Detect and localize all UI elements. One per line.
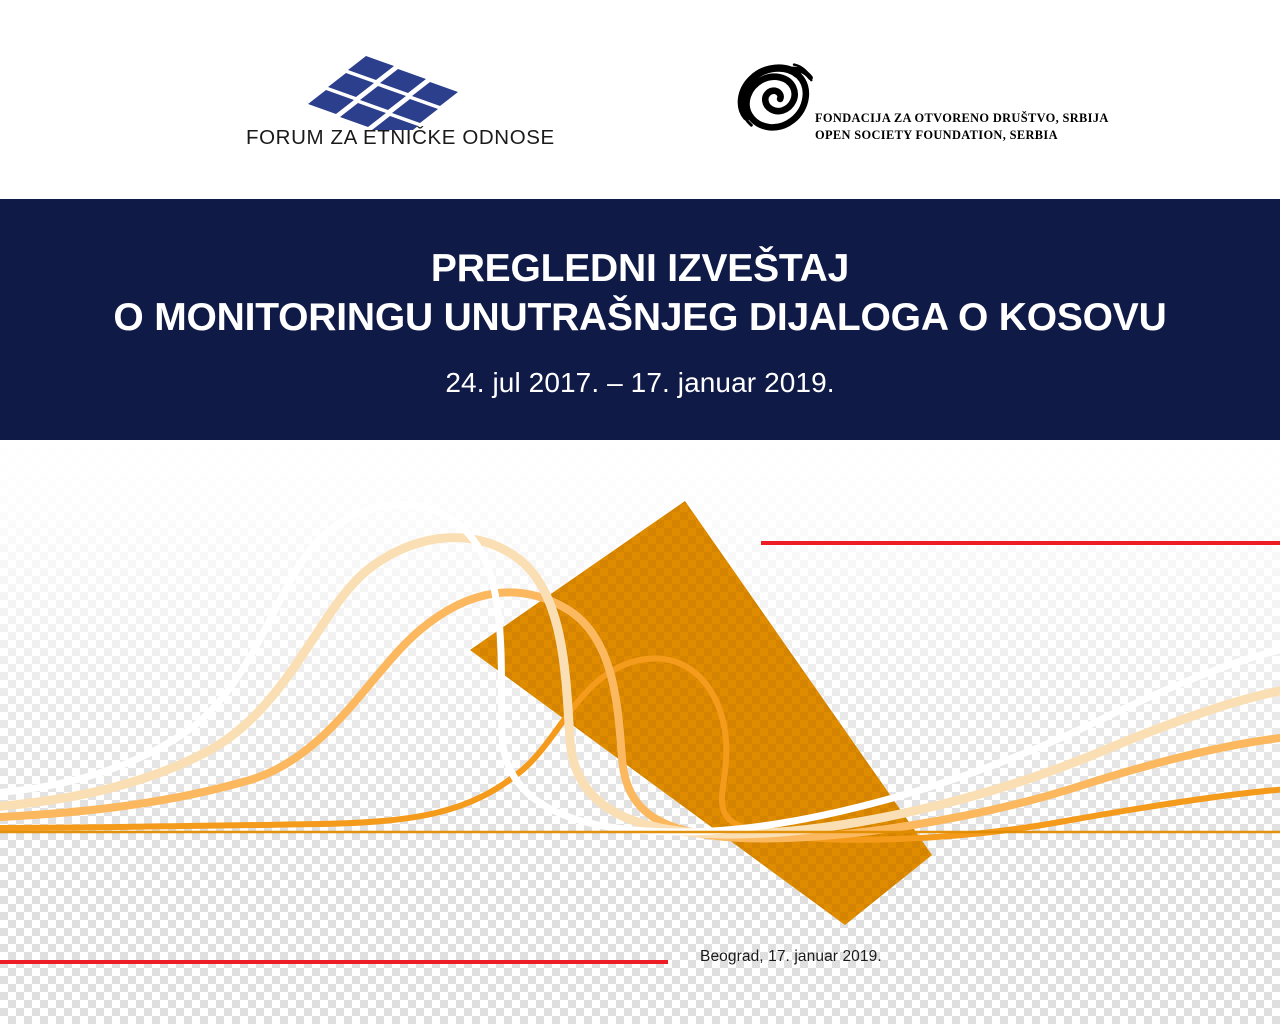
forum-wordmark: FORUM ZA ETNIČKE ODNOSE [246,126,486,150]
orange-rotated-rectangle [470,501,932,925]
report-title-line-1: PREGLEDNI IZVEŠTAJ [431,247,849,290]
title-banner: PREGLEDNI IZVEŠTAJ O MONITORINGU UNUTRAŠ… [0,199,1280,440]
diamond-grid-icon [246,50,486,130]
forum-za-etnicke-odnose-logo: FORUM ZA ETNIČKE ODNOSE [246,50,486,160]
red-rule-bottom [0,960,668,964]
decorative-graphic [0,440,1280,1024]
presentation-slide: FORUM ZA ETNIČKE ODNOSE FONDACIJA ZA OTV… [0,0,1280,1024]
spiral-icon [735,58,817,140]
osf-wordmark: FONDACIJA ZA OTVORENO DRUŠTVO, SRBIJA OP… [815,110,1109,144]
osf-wordmark-line-2: OPEN SOCIETY FOUNDATION, SERBIA [815,127,1109,144]
logo-header-band: FORUM ZA ETNIČKE ODNOSE FONDACIJA ZA OTV… [0,0,1280,199]
red-rule-top [761,541,1280,545]
report-date-range: 24. jul 2017. – 17. januar 2019. [0,342,1280,400]
osf-wordmark-line-1: FONDACIJA ZA OTVORENO DRUŠTVO, SRBIJA [815,110,1109,127]
slide-caption: Beograd, 17. januar 2019. [700,948,882,966]
report-title: PREGLEDNI IZVEŠTAJ O MONITORINGU UNUTRAŠ… [0,199,1280,342]
open-society-foundation-logo: FONDACIJA ZA OTVORENO DRUŠTVO, SRBIJA OP… [735,58,1075,144]
artwork-area [0,440,1280,1024]
report-title-line-2: O MONITORINGU UNUTRAŠNJEG DIJALOGA O KOS… [0,293,1280,342]
